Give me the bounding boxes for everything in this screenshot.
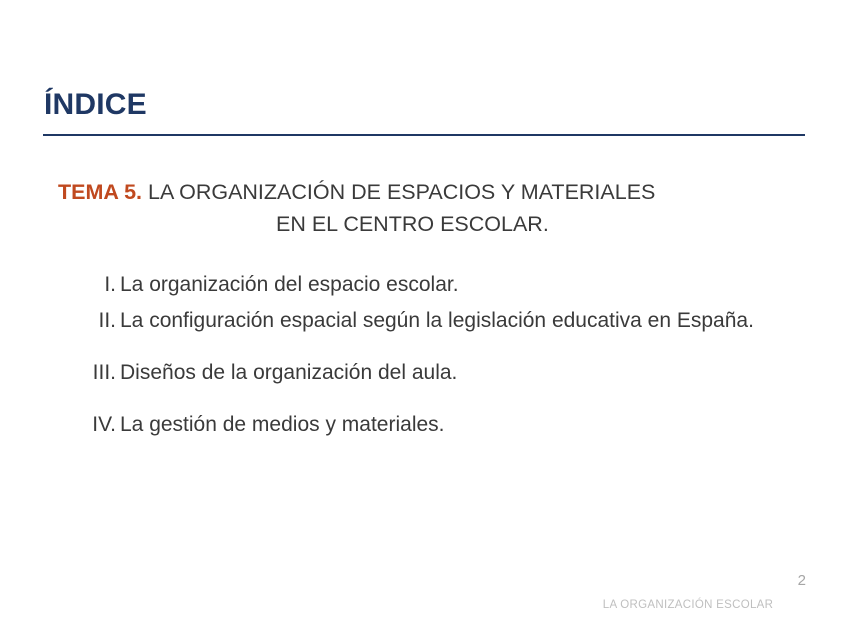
slide-canvas: ÍNDICE TEMA 5. LA ORGANIZACIÓN DE ESPACI… xyxy=(0,0,848,636)
list-item: II. La configuración espacial según la l… xyxy=(58,306,818,336)
list-item: I. La organización del espacio escolar. xyxy=(58,270,818,300)
heading-line-1-rest: LA ORGANIZACIÓN DE ESPACIOS Y MATERIALES xyxy=(142,180,655,204)
list-item: III. Diseños de la organización del aula… xyxy=(58,358,818,388)
list-item-numeral: II. xyxy=(58,306,120,336)
list-item-numeral: IV. xyxy=(58,410,120,440)
title-divider xyxy=(43,134,805,136)
list-item-label: La gestión de medios y materiales. xyxy=(120,410,792,440)
index-list: I. La organización del espacio escolar. … xyxy=(58,270,818,450)
list-item-label: La configuración espacial según la legis… xyxy=(120,306,792,336)
list-item-numeral: III. xyxy=(58,358,120,388)
heading-line-1: TEMA 5. LA ORGANIZACIÓN DE ESPACIOS Y MA… xyxy=(58,176,818,208)
list-item-numeral: I. xyxy=(58,270,120,300)
list-item-label: Diseños de la organización del aula. xyxy=(120,358,792,388)
list-item: IV. La gestión de medios y materiales. xyxy=(58,410,818,440)
page-number: 2 xyxy=(746,572,806,590)
heading-block: TEMA 5. LA ORGANIZACIÓN DE ESPACIOS Y MA… xyxy=(58,176,818,240)
heading-line-2: EN EL CENTRO ESCOLAR. xyxy=(58,208,818,240)
tema-label: TEMA 5. xyxy=(58,180,142,204)
list-item-label: La organización del espacio escolar. xyxy=(120,270,792,300)
footer-text: LA ORGANIZACIÓN ESCOLAR xyxy=(546,598,830,612)
title-block: ÍNDICE xyxy=(44,86,806,124)
page-title: ÍNDICE xyxy=(44,86,806,124)
